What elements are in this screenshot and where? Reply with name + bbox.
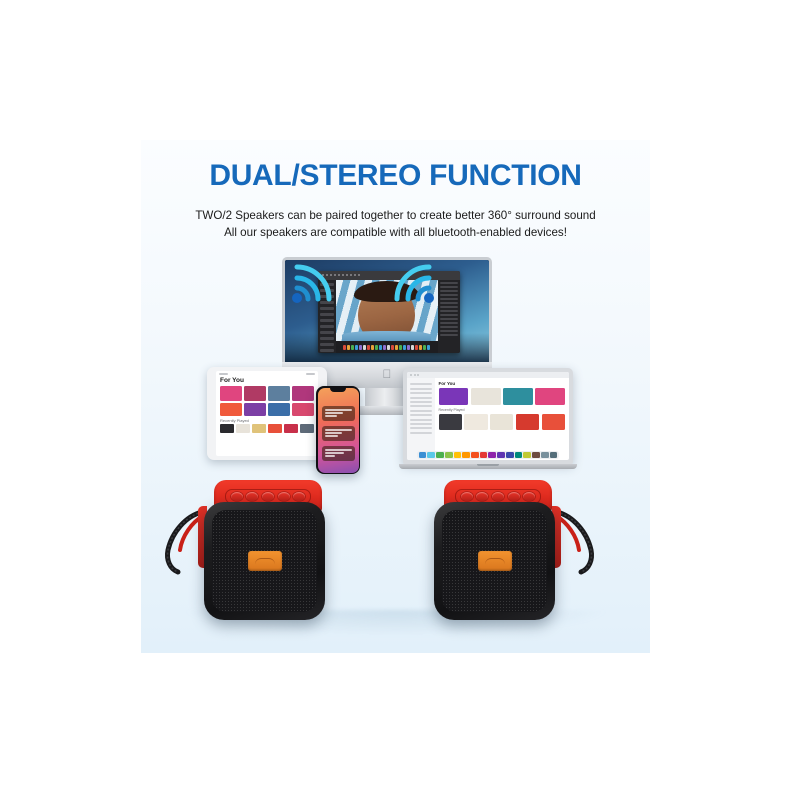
toolbar-swatch <box>355 345 358 350</box>
dock-icon[interactable] <box>488 452 496 458</box>
speaker-button[interactable] <box>278 492 290 501</box>
media-tile <box>503 388 533 405</box>
media-tile <box>220 403 242 416</box>
toolbar-swatch <box>375 345 378 350</box>
dock-icon[interactable] <box>427 452 435 458</box>
notification-card <box>322 406 355 421</box>
media-tile <box>244 386 266 401</box>
media-tile <box>464 414 487 430</box>
toolbar-swatch <box>399 345 402 350</box>
left-speaker <box>192 480 337 625</box>
media-tile <box>268 386 290 401</box>
toolbar-swatch <box>391 345 394 350</box>
toolbar-swatch <box>423 345 426 350</box>
speaker-button[interactable] <box>231 492 243 501</box>
dock-icon[interactable] <box>523 452 531 458</box>
speaker-button[interactable] <box>492 492 504 501</box>
media-tile <box>252 424 266 433</box>
toolbar-swatch <box>395 345 398 350</box>
photo-editor-toolbar <box>336 341 437 352</box>
speaker-body <box>434 502 555 620</box>
toolbar-swatch <box>427 345 430 350</box>
media-tile <box>471 388 501 405</box>
toolbar-swatch <box>347 345 350 350</box>
macbook-album-row-1 <box>439 388 565 405</box>
media-tile <box>439 414 462 430</box>
media-tile <box>439 388 469 405</box>
iphone-screen <box>318 388 359 473</box>
speaker-button[interactable] <box>293 492 305 501</box>
content-panel: DUAL/STEREO FUNCTION TWO/2 Speakers can … <box>141 140 650 653</box>
product-marketing-image: DUAL/STEREO FUNCTION TWO/2 Speakers can … <box>0 0 800 800</box>
toolbar-swatch <box>419 345 422 350</box>
macbook-base <box>399 464 577 469</box>
dock-icon[interactable] <box>550 452 558 458</box>
speaker-button[interactable] <box>262 492 274 501</box>
ipad-screen-heading: For You <box>216 377 318 386</box>
toolbar-swatch <box>383 345 386 350</box>
toolbar-swatch <box>351 345 354 350</box>
bluetooth-waves-icon <box>381 258 437 306</box>
dock-icon[interactable] <box>515 452 523 458</box>
macbook-album-row-2 <box>439 414 565 430</box>
toolbar-swatch <box>363 345 366 350</box>
dock-icon[interactable] <box>419 452 427 458</box>
macbook-screen-subheading: Recently Played <box>439 408 565 412</box>
toolbar-swatch <box>379 345 382 350</box>
macbook-sidebar <box>407 378 435 460</box>
media-tile <box>268 403 290 416</box>
speaker-brand-badge <box>248 551 282 571</box>
portrait-shirt <box>342 331 431 341</box>
speaker-body <box>204 502 325 620</box>
ipad-device: For You Recently Played <box>207 367 327 460</box>
toolbar-swatch <box>407 345 410 350</box>
notification-card <box>322 446 355 461</box>
ipad-screen: For You Recently Played <box>216 371 318 456</box>
dock-icon[interactable] <box>436 452 444 458</box>
dock-icon[interactable] <box>471 452 479 458</box>
media-tile <box>220 386 242 401</box>
toolbar-swatch <box>343 345 346 350</box>
ipad-tile-row-3 <box>216 424 318 433</box>
iphone-notch <box>330 388 346 392</box>
media-tile <box>516 414 539 430</box>
speaker-brand-badge <box>478 551 512 571</box>
speaker-button[interactable] <box>461 492 473 501</box>
macbook-device: For You Recently Played <box>403 368 573 472</box>
dock-icon[interactable] <box>506 452 514 458</box>
macbook-content: For You Recently Played <box>435 378 569 460</box>
photo-editor-right-panel <box>438 280 461 353</box>
dock-icon[interactable] <box>497 452 505 458</box>
macbook-lid: For You Recently Played <box>403 368 573 464</box>
speaker-button[interactable] <box>246 492 258 501</box>
media-tile <box>292 386 314 401</box>
iphone-device <box>316 386 360 474</box>
right-speaker <box>422 480 567 625</box>
toolbar-swatch <box>415 345 418 350</box>
bluetooth-waves-icon <box>289 258 345 306</box>
dock-icon[interactable] <box>454 452 462 458</box>
toolbar-swatch <box>387 345 390 350</box>
media-tile <box>284 424 298 433</box>
macbook-trackpad-notch <box>477 464 499 466</box>
apple-logo-icon:  <box>383 368 392 380</box>
ipad-tile-row-1 <box>216 386 318 401</box>
dock-icon[interactable] <box>532 452 540 458</box>
notification-card <box>322 426 355 441</box>
dock-icon[interactable] <box>480 452 488 458</box>
media-tile <box>490 414 513 430</box>
dock-icon[interactable] <box>462 452 470 458</box>
macbook-screen: For You Recently Played <box>407 372 569 460</box>
macbook-screen-heading: For You <box>439 381 565 386</box>
media-tile <box>292 403 314 416</box>
ipad-screen-subheading: Recently Played <box>216 416 318 424</box>
media-tile <box>535 388 565 405</box>
dock-icon[interactable] <box>541 452 549 458</box>
macbook-window-body: For You Recently Played <box>407 378 569 460</box>
toolbar-swatch <box>359 345 362 350</box>
toolbar-swatch <box>403 345 406 350</box>
speaker-button[interactable] <box>523 492 535 501</box>
toolbar-swatch <box>411 345 414 350</box>
speaker-button[interactable] <box>476 492 488 501</box>
ipad-tile-row-2 <box>216 401 318 416</box>
media-tile <box>268 424 282 433</box>
media-tile <box>542 414 565 430</box>
speaker-button[interactable] <box>508 492 520 501</box>
device-group:  For You Recently Played <box>141 140 650 653</box>
media-tile <box>236 424 250 433</box>
macos-dock <box>417 451 560 459</box>
toolbar-swatch <box>367 345 370 350</box>
dock-icon[interactable] <box>445 452 453 458</box>
media-tile <box>220 424 234 433</box>
media-tile <box>300 424 314 433</box>
media-tile <box>244 403 266 416</box>
toolbar-swatch <box>371 345 374 350</box>
